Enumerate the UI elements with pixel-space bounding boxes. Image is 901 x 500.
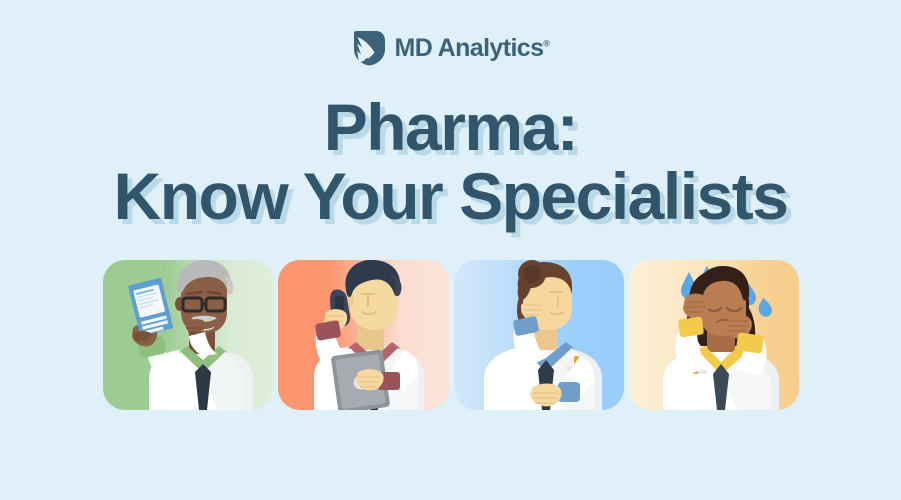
illustration-card-doctor-phone-tablet [278,260,448,410]
doctor-phone-figure [278,260,448,410]
senior-doctor-figure [103,260,273,410]
registered-trademark-symbol: ® [543,38,549,48]
brand-wordmark: MD Analytics® [395,36,550,61]
md-analytics-shield-icon [352,30,386,66]
illustration-card-doctor-thinking [454,260,624,410]
brand-logo: MD Analytics® [0,30,901,66]
doctor-stressed-figure [629,260,799,410]
brand-name-text: MD Analytics [395,34,544,62]
doctor-thinking-figure [454,260,624,410]
title-line-1: Pharma: [0,96,901,159]
illustration-card-doctor-stressed [629,260,799,410]
illustration-card-senior-doctor-medication [103,260,273,410]
illustration-card-row [103,260,799,410]
page-title: Pharma: Know Your Specialists [0,96,901,227]
title-line-2: Know Your Specialists [0,165,901,228]
